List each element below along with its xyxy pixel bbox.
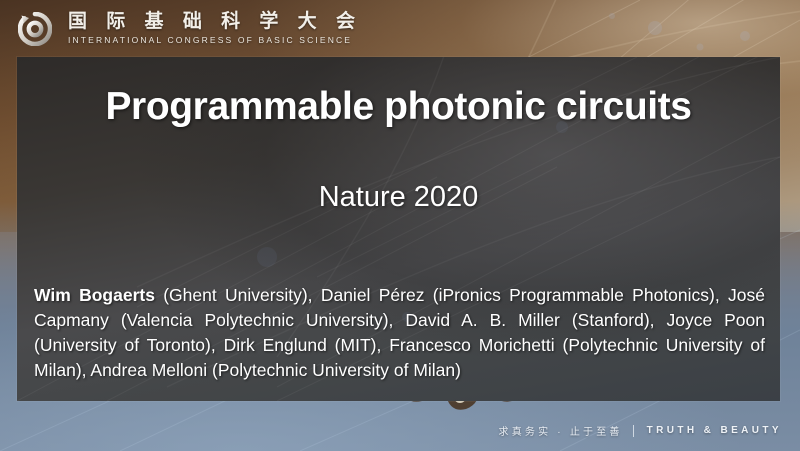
- footer-motto: 求真务实 · 止于至善 TRUTH & BEAUTY: [499, 423, 782, 438]
- congress-logo-text: 国 际 基 础 科 学 大 会 INTERNATIONAL CONGRESS O…: [68, 12, 362, 45]
- slide-subtitle: Nature 2020: [17, 181, 780, 214]
- footer-divider: [633, 425, 634, 437]
- presentation-slide: 国 际 基 础 科 学 大 会 INTERNATIONAL CONGRESS O…: [0, 0, 800, 451]
- slide-panel: Programmable photonic circuits Nature 20…: [17, 57, 780, 401]
- congress-header: 国 际 基 础 科 学 大 会 INTERNATIONAL CONGRESS O…: [0, 0, 800, 57]
- congress-title-en: INTERNATIONAL CONGRESS OF BASIC SCIENCE: [68, 36, 362, 45]
- lead-author-name: Wim Bogaerts: [34, 285, 155, 305]
- congress-title-cn: 国 际 基 础 科 学 大 会: [68, 12, 362, 31]
- footer-motto-en: TRUTH & BEAUTY: [647, 425, 782, 436]
- slide-title: Programmable photonic circuits: [17, 85, 780, 129]
- congress-circular-logo-icon: [18, 12, 52, 46]
- author-list: Wim Bogaerts (Ghent University), Daniel …: [34, 283, 765, 383]
- footer-motto-cn: 求真务实 · 止于至善: [499, 423, 623, 438]
